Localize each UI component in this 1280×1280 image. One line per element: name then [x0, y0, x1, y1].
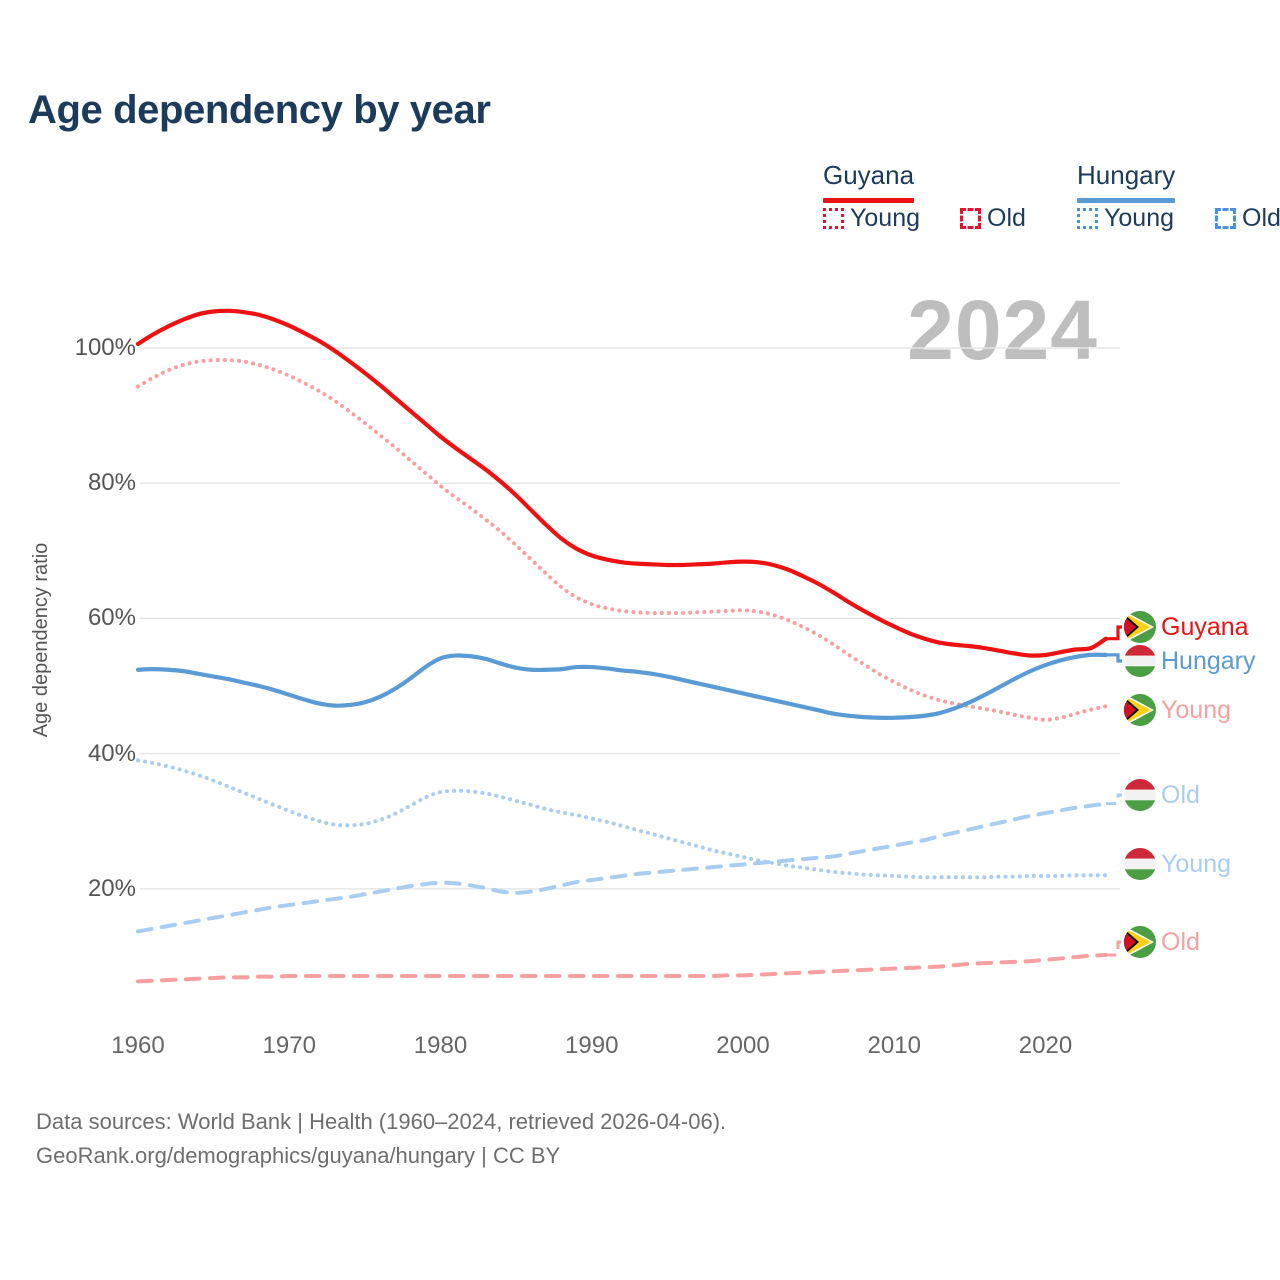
end-label-old-3[interactable]: Old [1124, 779, 1200, 811]
footer-credits: Data sources: World Bank | Health (1960–… [36, 1105, 726, 1173]
end-label-text: Old [1161, 928, 1200, 957]
end-label-text: Young [1161, 696, 1231, 725]
guyana-flag-icon [1124, 926, 1156, 958]
y-axis-ticks: 20%40%60%80%100% [58, 0, 136, 1280]
y-tick-label: 80% [88, 469, 136, 497]
x-tick-label: 2020 [1019, 1032, 1072, 1060]
leader-line-hungary-old [1106, 795, 1122, 804]
x-tick-label: 2010 [868, 1032, 921, 1060]
plot-area: 20%40%60%80%100% 19601970198019902000201… [0, 0, 1280, 1280]
x-tick-label: 1990 [565, 1032, 618, 1060]
leader-line-guyana-young [1106, 706, 1122, 710]
end-label-text: Young [1161, 850, 1231, 879]
chart-page: Age dependency by year Guyana Hungary Yo… [0, 0, 1280, 1280]
hungary-flag-icon [1124, 645, 1156, 677]
end-label-text: Old [1161, 781, 1200, 810]
footer-line-url: GeoRank.org/demographics/guyana/hungary … [36, 1139, 726, 1173]
leader-line-hungary-total [1106, 655, 1122, 661]
leader-line-guyana-total [1106, 627, 1122, 639]
x-tick-label: 1970 [263, 1032, 316, 1060]
end-label-text: Hungary [1161, 647, 1256, 676]
leader-line-guyana-old [1106, 942, 1122, 955]
guyana-flag-icon [1124, 694, 1156, 726]
end-label-young-4[interactable]: Young [1124, 848, 1231, 880]
end-label-text: Guyana [1161, 613, 1249, 642]
chart-svg [0, 0, 1280, 1280]
y-tick-label: 60% [88, 604, 136, 632]
end-label-hungary-1[interactable]: Hungary [1124, 645, 1256, 677]
x-tick-label: 2000 [716, 1032, 769, 1060]
y-tick-label: 40% [88, 740, 136, 768]
x-tick-label: 1960 [111, 1032, 164, 1060]
guyana-flag-icon [1124, 611, 1156, 643]
series-line-hungary-total [138, 655, 1106, 718]
series-line-hungary-young [138, 760, 1106, 877]
end-label-guyana-0[interactable]: Guyana [1124, 611, 1249, 643]
y-tick-label: 20% [88, 875, 136, 903]
end-label-young-2[interactable]: Young [1124, 694, 1231, 726]
x-tick-label: 1980 [414, 1032, 467, 1060]
hungary-flag-icon [1124, 848, 1156, 880]
leader-line-hungary-young [1106, 864, 1122, 875]
series-line-guyana-young [138, 360, 1106, 720]
hungary-flag-icon [1124, 779, 1156, 811]
series-line-guyana-old [138, 955, 1106, 981]
series-line-hungary-old [138, 804, 1106, 932]
y-tick-label: 100% [75, 334, 136, 362]
footer-line-sources: Data sources: World Bank | Health (1960–… [36, 1105, 726, 1139]
end-label-old-5[interactable]: Old [1124, 926, 1200, 958]
